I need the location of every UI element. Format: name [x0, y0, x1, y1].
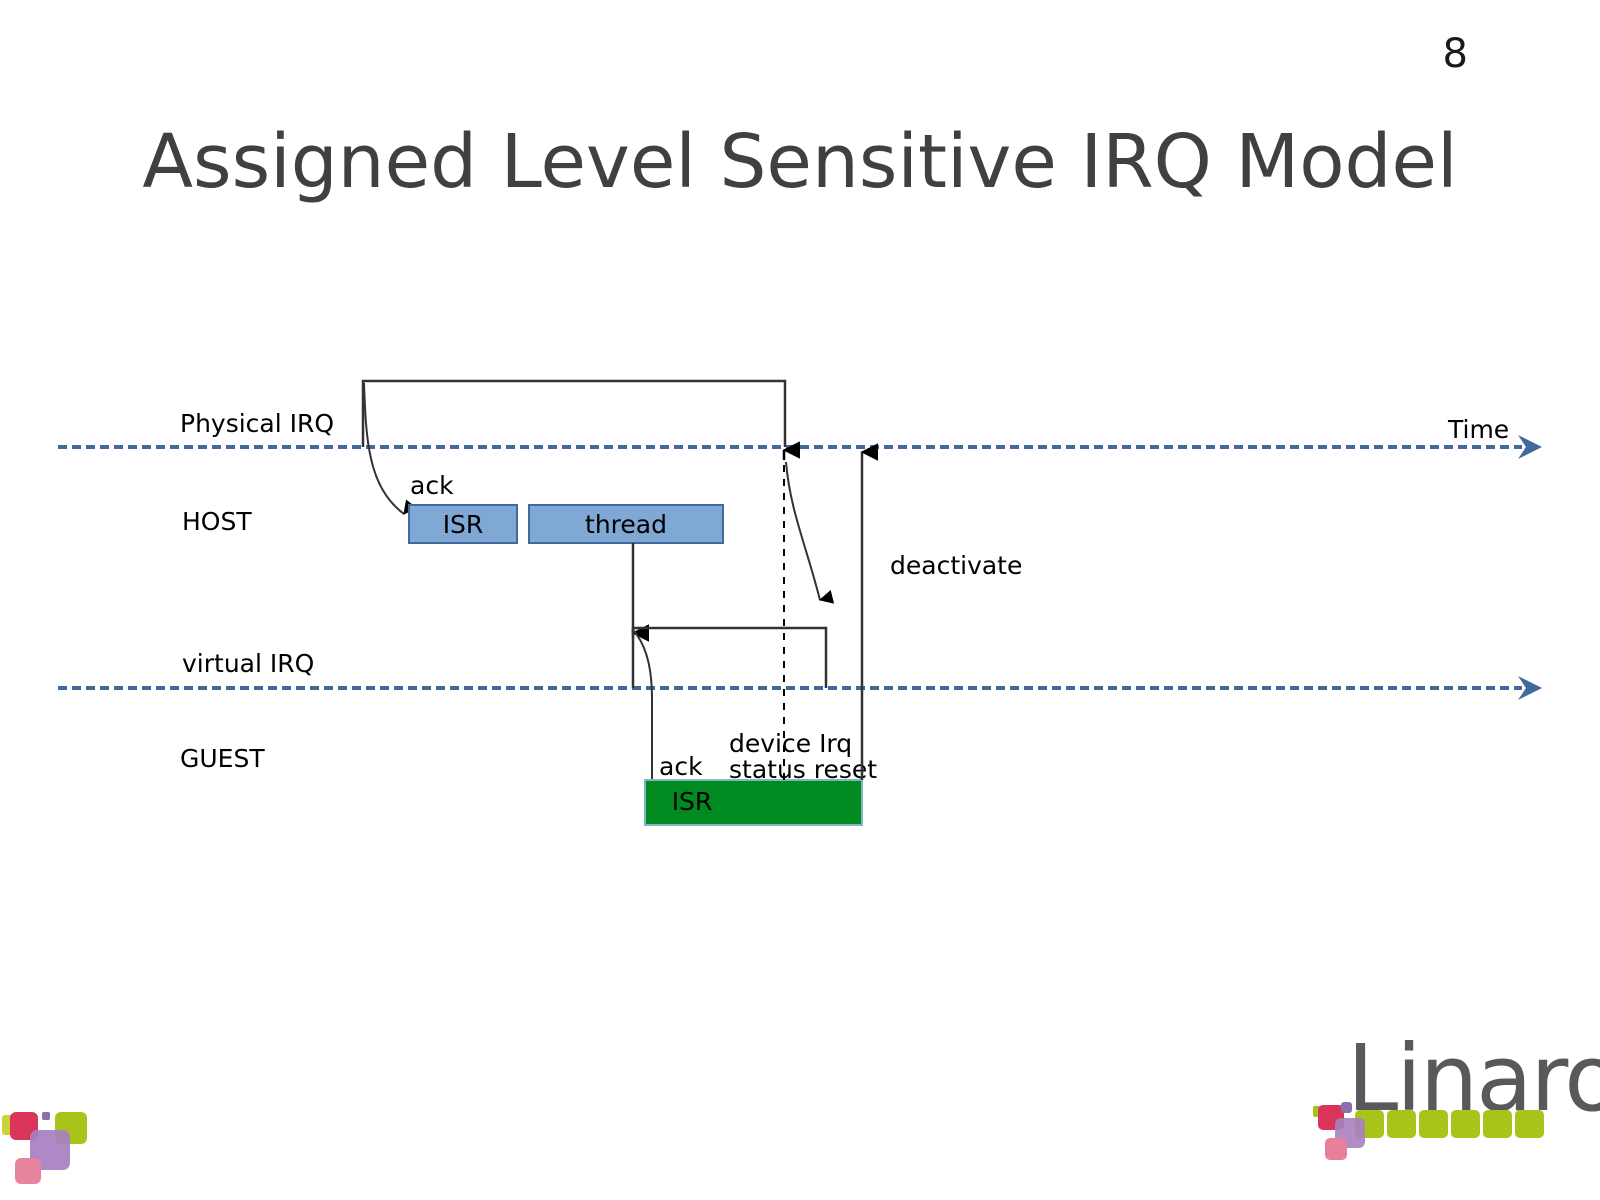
virtual-irq-pulse-path — [633, 628, 826, 688]
host-isr-label: ISR — [443, 510, 484, 539]
decorative-squares-bottom-left — [0, 1060, 140, 1200]
annotation-device-irq-line2: status reset — [729, 755, 877, 784]
physical-irq-pulse-path — [363, 381, 785, 447]
lane-label-guest: GUEST — [180, 744, 265, 773]
guest-isr-block: ISR — [645, 780, 862, 825]
host-thread-block: thread — [529, 505, 723, 543]
annotation-deactivate: deactivate — [890, 551, 1022, 580]
host-isr-block: ISR — [409, 505, 517, 543]
lane-label-virtual-irq: virtual IRQ — [182, 649, 314, 678]
guest-isr-label: ISR — [672, 787, 713, 816]
physical-irq-pulse — [363, 381, 785, 447]
host-thread-label: thread — [585, 510, 667, 539]
annotation-ack-guest: ack — [659, 752, 703, 781]
slide-canvas: 8 Assigned Level Sensitive IRQ Model Phy… — [0, 0, 1600, 1200]
virtual-irq-pulse — [633, 628, 826, 688]
time-axis-label: Time — [1447, 415, 1509, 444]
linaro-logo: Linaro — [1275, 1018, 1600, 1188]
annotation-ack-host: ack — [410, 471, 454, 500]
lane-label-physical-irq: Physical IRQ — [180, 409, 334, 438]
lane-label-host: HOST — [182, 507, 252, 536]
annotation-device-irq-line1: device Irq — [729, 729, 852, 758]
virtual-irq-to-guest-isr-arrow — [634, 631, 652, 795]
physical-to-virtual-fall-arrow — [786, 462, 820, 600]
